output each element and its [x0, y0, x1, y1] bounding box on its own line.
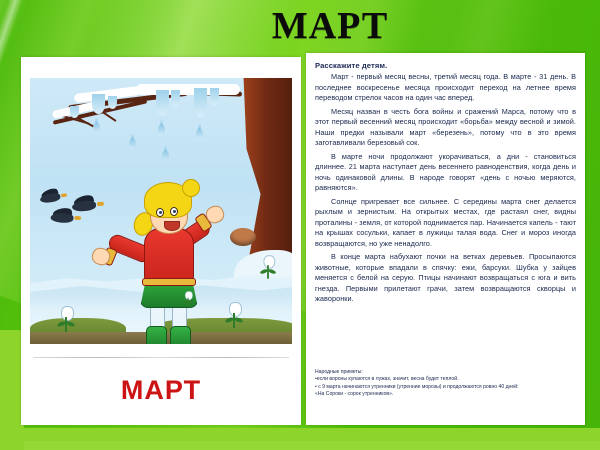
tree-knot-icon	[230, 228, 256, 246]
omen-item: «На Сороки - сорок утренников».	[315, 391, 577, 399]
icicle-icon	[156, 90, 169, 116]
slide: МАРТ	[0, 0, 600, 450]
illustration	[30, 78, 292, 344]
paragraph: Месяц назван в честь бога войны и сражен…	[315, 107, 576, 149]
illustration-caption: МАРТ	[21, 375, 301, 406]
jacket-hem	[142, 278, 196, 286]
eye	[156, 208, 164, 217]
text-card: Расскажите детям. Март - первый месяц ве…	[306, 53, 585, 425]
mouth	[164, 221, 180, 231]
paragraph: Солнце пригревает все сильнее. С середин…	[315, 197, 576, 250]
water-drop-icon	[196, 128, 203, 139]
lead-heading: Расскажите детям.	[315, 61, 576, 70]
illustration-card: МАРТ	[21, 57, 301, 425]
folk-omens-block: Народные приметы: •если вороны купаются …	[315, 369, 577, 399]
icicle-icon	[70, 106, 79, 118]
icicle-icon	[210, 88, 219, 106]
omen-item: • с 9 марта начинаются утренники (утренн…	[315, 384, 577, 392]
paragraph: В марте ночи продолжают укорачиваться, а…	[315, 152, 576, 194]
boot	[146, 326, 167, 344]
paragraph: Март - первый месяц весны, третий месяц …	[315, 72, 576, 104]
snowdrop-flower-icon	[183, 291, 193, 307]
icicle-icon	[171, 90, 180, 107]
boot	[170, 326, 191, 344]
card-divider	[33, 357, 289, 358]
snowdrop-flower-icon	[58, 306, 74, 332]
snowdrop-flower-icon	[261, 255, 275, 278]
snowdrop-flower-icon	[226, 302, 242, 328]
rook-bird-icon	[70, 197, 101, 214]
icicle-icon	[194, 88, 207, 118]
icicle-icon	[92, 94, 105, 114]
paragraph: В конце марта набухают почки на ветках д…	[315, 252, 576, 305]
water-drop-icon	[162, 150, 169, 161]
water-drop-icon	[93, 122, 100, 133]
icicle-icon	[108, 96, 117, 109]
girl-figure	[126, 182, 210, 344]
omen-item: •если вороны купаются в лужах, значит, в…	[315, 376, 577, 384]
omens-title: Народные приметы:	[315, 369, 577, 375]
hair-bun	[182, 179, 200, 197]
water-drop-icon	[129, 138, 136, 149]
water-drop-icon	[158, 124, 165, 135]
eye	[170, 207, 178, 216]
slide-title: МАРТ	[0, 4, 600, 48]
bottom-band-inner	[0, 441, 600, 450]
